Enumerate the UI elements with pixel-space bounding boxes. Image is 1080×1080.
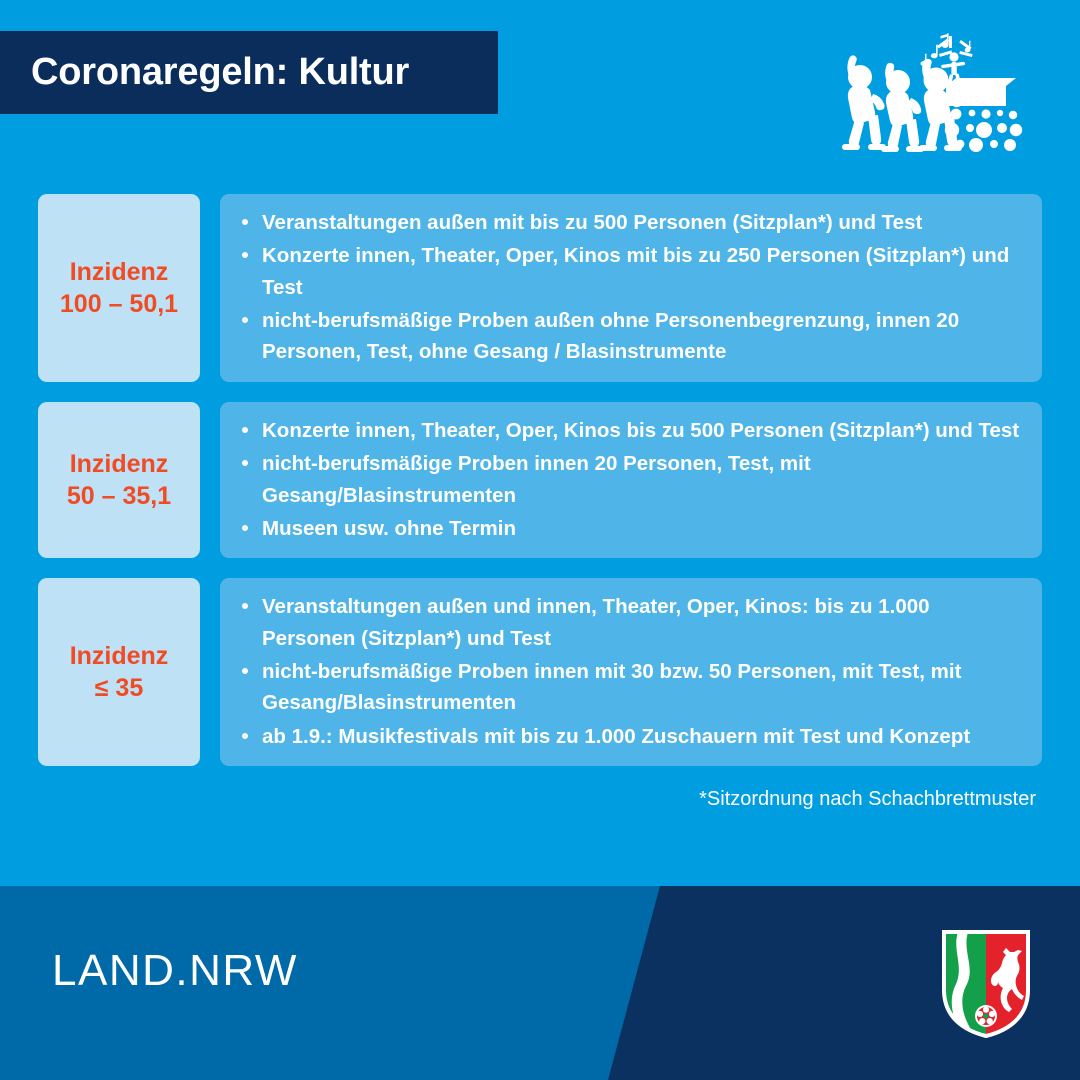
rule-block: Inzidenz 100 – 50,1 Veranstaltungen auße… <box>38 194 1042 382</box>
list-item: Konzerte innen, Theater, Oper, Kinos mit… <box>238 240 1024 303</box>
incidence-label: Inzidenz <box>70 256 169 288</box>
footer-bar: LAND.NRW <box>0 886 1080 1080</box>
incidence-range: 50 – 35,1 <box>67 480 171 512</box>
rule-block: Inzidenz ≤ 35 Veranstaltungen außen und … <box>38 578 1042 766</box>
list-item: Veranstaltungen außen und innen, Theater… <box>238 591 1024 654</box>
rule-content-box: Veranstaltungen außen mit bis zu 500 Per… <box>220 194 1042 382</box>
footnote-text: *Sitzordnung nach Schachbrettmuster <box>699 788 1036 811</box>
rule-content-box: Veranstaltungen außen und innen, Theater… <box>220 578 1042 766</box>
rules-list: Inzidenz 100 – 50,1 Veranstaltungen auße… <box>38 194 1042 786</box>
dancing-crowd-concert-icon <box>828 18 1038 168</box>
incidence-level-box: Inzidenz 50 – 35,1 <box>38 402 200 558</box>
incidence-level-box: Inzidenz ≤ 35 <box>38 578 200 766</box>
rule-block: Inzidenz 50 – 35,1 Konzerte innen, Theat… <box>38 402 1042 558</box>
list-item: Veranstaltungen außen mit bis zu 500 Per… <box>238 207 1024 238</box>
infographic-page: Coronaregeln: Kultur <box>0 0 1080 1080</box>
rule-bullet-list: Konzerte innen, Theater, Oper, Kinos bis… <box>238 415 1024 544</box>
incidence-range: ≤ 35 <box>95 672 143 704</box>
list-item: Konzerte innen, Theater, Oper, Kinos bis… <box>238 415 1024 446</box>
list-item: nicht-berufsmäßige Proben außen ohne Per… <box>238 305 1024 368</box>
page-title: Coronaregeln: Kultur <box>0 51 409 94</box>
rule-content-box: Konzerte innen, Theater, Oper, Kinos bis… <box>220 402 1042 558</box>
incidence-label: Inzidenz <box>70 448 169 480</box>
incidence-level-box: Inzidenz 100 – 50,1 <box>38 194 200 382</box>
rule-bullet-list: Veranstaltungen außen mit bis zu 500 Per… <box>238 207 1024 368</box>
incidence-range: 100 – 50,1 <box>60 288 178 320</box>
rule-bullet-list: Veranstaltungen außen und innen, Theater… <box>238 591 1024 752</box>
title-bar: Coronaregeln: Kultur <box>0 31 498 114</box>
list-item: ab 1.9.: Musikfestivals mit bis zu 1.000… <box>238 721 1024 752</box>
brand-wordmark: LAND.NRW <box>52 946 298 996</box>
nrw-coat-of-arms-icon <box>940 928 1032 1040</box>
list-item: nicht-berufsmäßige Proben innen 20 Perso… <box>238 448 1024 511</box>
list-item: Museen usw. ohne Termin <box>238 513 1024 544</box>
list-item: nicht-berufsmäßige Proben innen mit 30 b… <box>238 656 1024 719</box>
incidence-label: Inzidenz <box>70 640 169 672</box>
